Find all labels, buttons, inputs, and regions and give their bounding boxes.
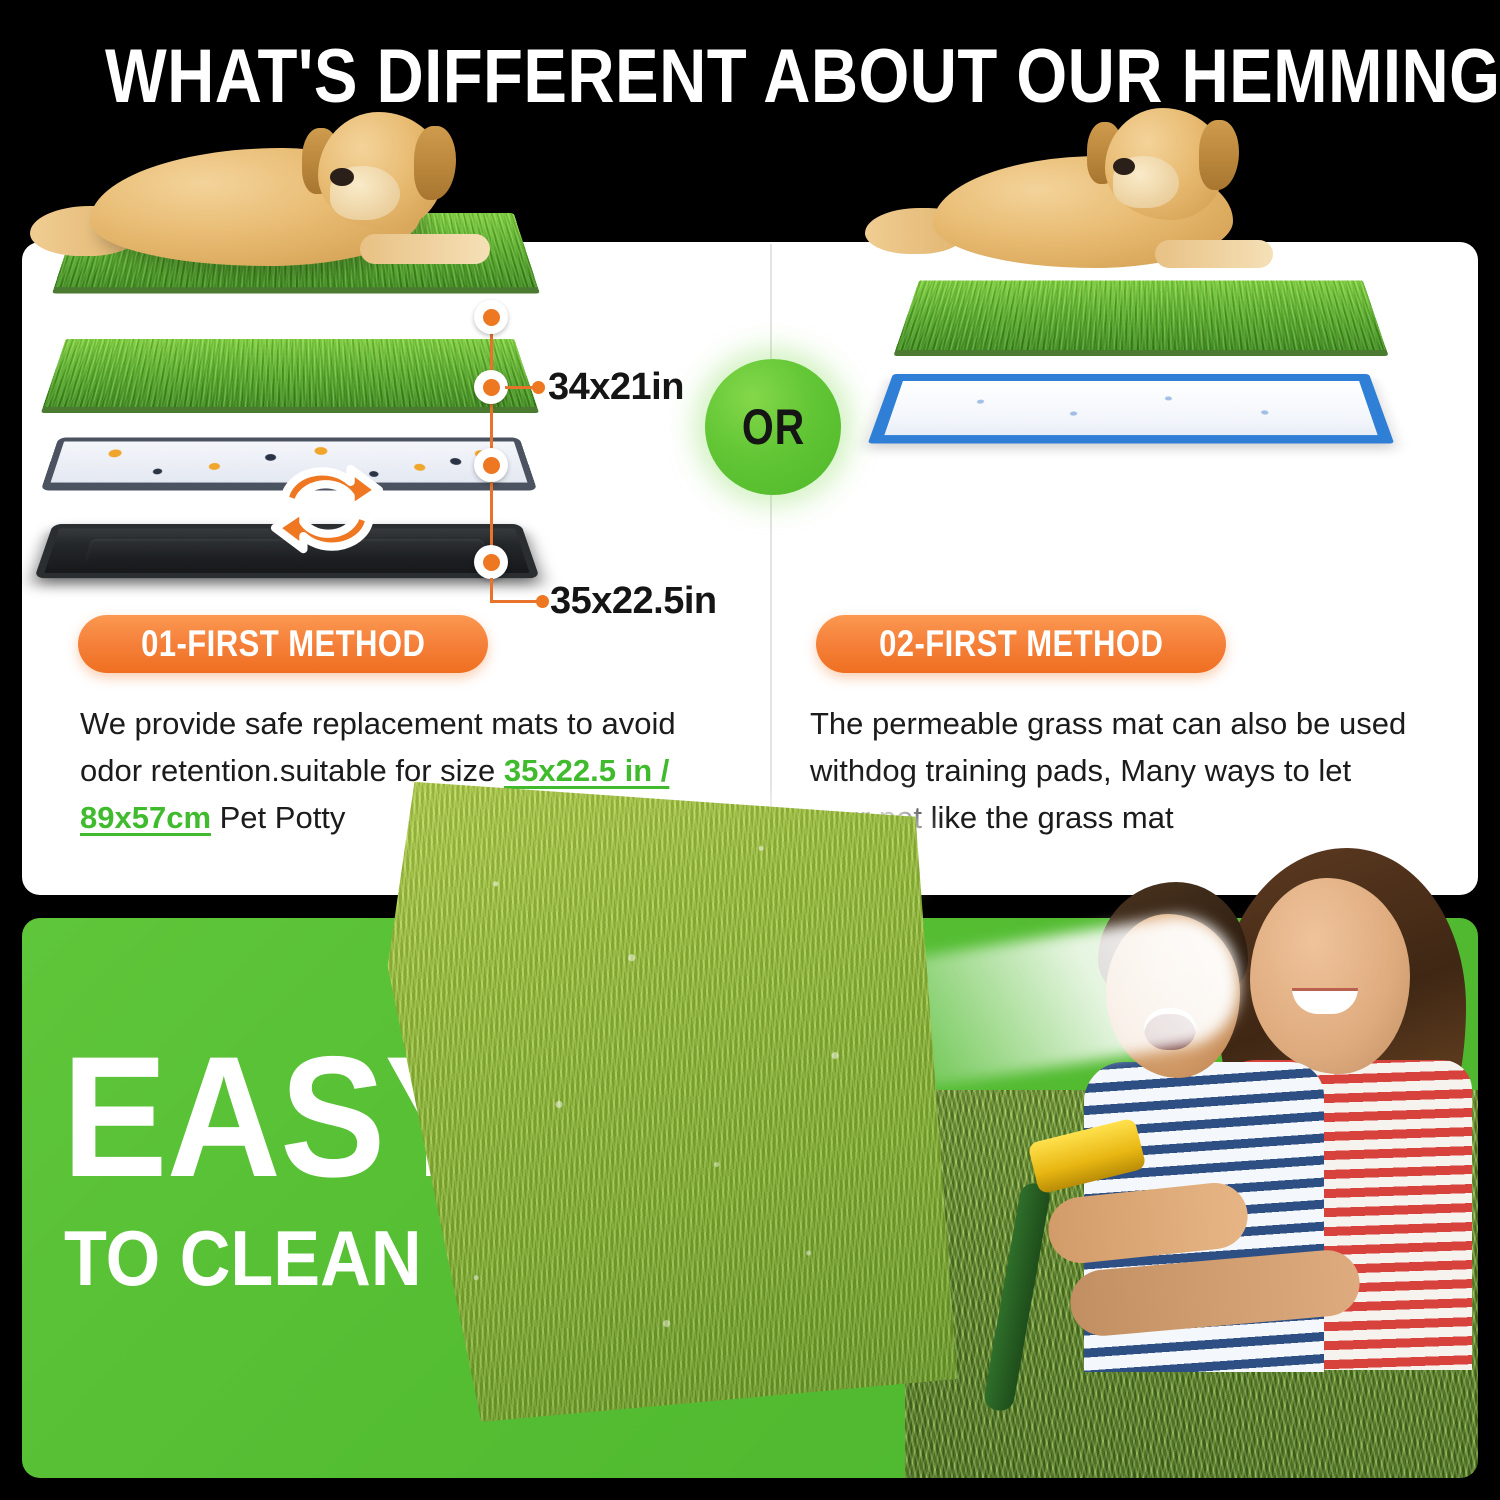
woman-face xyxy=(1250,878,1410,1074)
infographic-root: WHAT'S DIFFERENT ABOUT OUR HEMMING GRASS… xyxy=(0,0,1500,1500)
method-badge-02-label: 02-FIRST METHOD xyxy=(879,623,1163,665)
dog-nose xyxy=(330,168,354,186)
to-clean-subhead: TO CLEAN xyxy=(64,1218,422,1298)
refresh-swap-icon xyxy=(266,450,388,568)
dog-ear-right-right xyxy=(1199,120,1239,190)
dog-ear-right xyxy=(414,126,456,200)
wet-grass-mat-product xyxy=(381,751,959,1425)
leader-end-tray-size xyxy=(536,595,549,608)
people-with-hose-photo xyxy=(1040,830,1460,1390)
method-badge-02: 02-FIRST METHOD xyxy=(816,615,1226,673)
or-badge: OR xyxy=(705,359,841,495)
callout-vertical-line-tray xyxy=(490,578,493,602)
or-badge-label: OR xyxy=(741,398,804,456)
method-badge-01: 01-FIRST METHOD xyxy=(78,615,488,673)
dimension-label-grass: 34x21in xyxy=(548,366,684,409)
right-scene-illustration xyxy=(855,160,1455,490)
dog-paw xyxy=(360,234,490,264)
page-title: WHAT'S DIFFERENT ABOUT OUR HEMMING GRASS… xyxy=(105,34,1395,120)
layer-stack-illustration xyxy=(30,148,550,618)
method-01-text-part2: Pet Potty xyxy=(211,800,345,835)
replacement-grass-mat-layer xyxy=(41,339,539,413)
wet-grass-mat-surface xyxy=(381,751,959,1425)
grass-mat-layer xyxy=(894,280,1389,355)
dimension-label-tray: 35x22.5in xyxy=(550,580,717,623)
blue-training-pad-layer xyxy=(868,374,1394,444)
callout-dot-layer-4 xyxy=(474,545,508,579)
callout-dot-layer-2 xyxy=(474,370,508,404)
callout-dot-layer-1 xyxy=(474,300,508,334)
method-badge-01-label: 01-FIRST METHOD xyxy=(141,623,425,665)
dog-paw-right xyxy=(1155,240,1273,268)
leader-end-grass-size xyxy=(532,381,545,394)
callout-dot-layer-3 xyxy=(474,448,508,482)
leader-line-tray-size xyxy=(490,600,542,603)
dog-nose-right xyxy=(1113,158,1135,175)
